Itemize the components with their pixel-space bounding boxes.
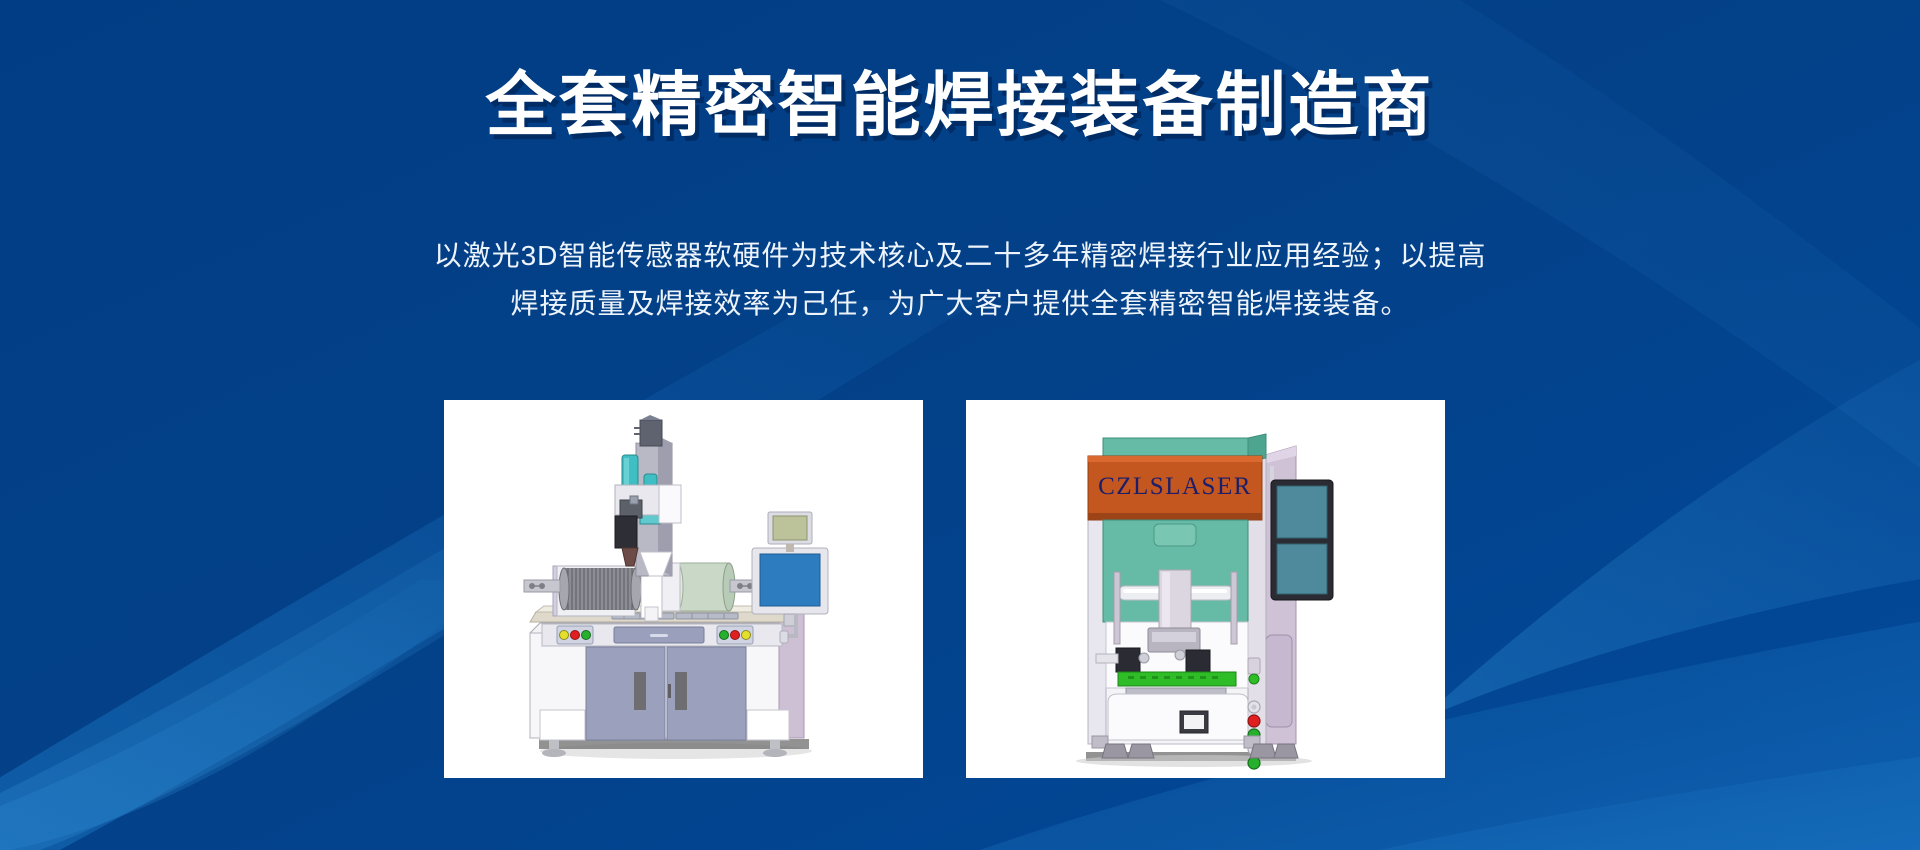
subtitle-line-2: 焊接质量及焊接效率为己任，为广大客户提供全套精密智能焊接装备。	[410, 280, 1510, 328]
product-image-gallery: CZLSLASER	[444, 400, 1445, 778]
subtitle-line-1: 以激光3D智能传感器软硬件为技术核心及二十多年精密焊接行业应用经验；以提高	[410, 232, 1510, 280]
product-image-panel-right[interactable]: CZLSLASER	[966, 400, 1445, 778]
page-title: 全套精密智能焊接装备制造商	[0, 66, 1920, 144]
cabinet-laser-welding-machine-illustration: CZLSLASER	[966, 400, 1445, 778]
product-image-panel-left[interactable]	[444, 400, 923, 778]
brand-label: CZLSLASER	[1098, 473, 1252, 500]
subtitle-block: 以激光3D智能传感器软硬件为技术核心及二十多年精密焊接行业应用经验；以提高 焊接…	[410, 232, 1510, 327]
promo-banner: 全套精密智能焊接装备制造商 以激光3D智能传感器软硬件为技术核心及二十多年精密焊…	[0, 0, 1920, 850]
precision-laser-welding-machine-illustration	[444, 400, 923, 778]
